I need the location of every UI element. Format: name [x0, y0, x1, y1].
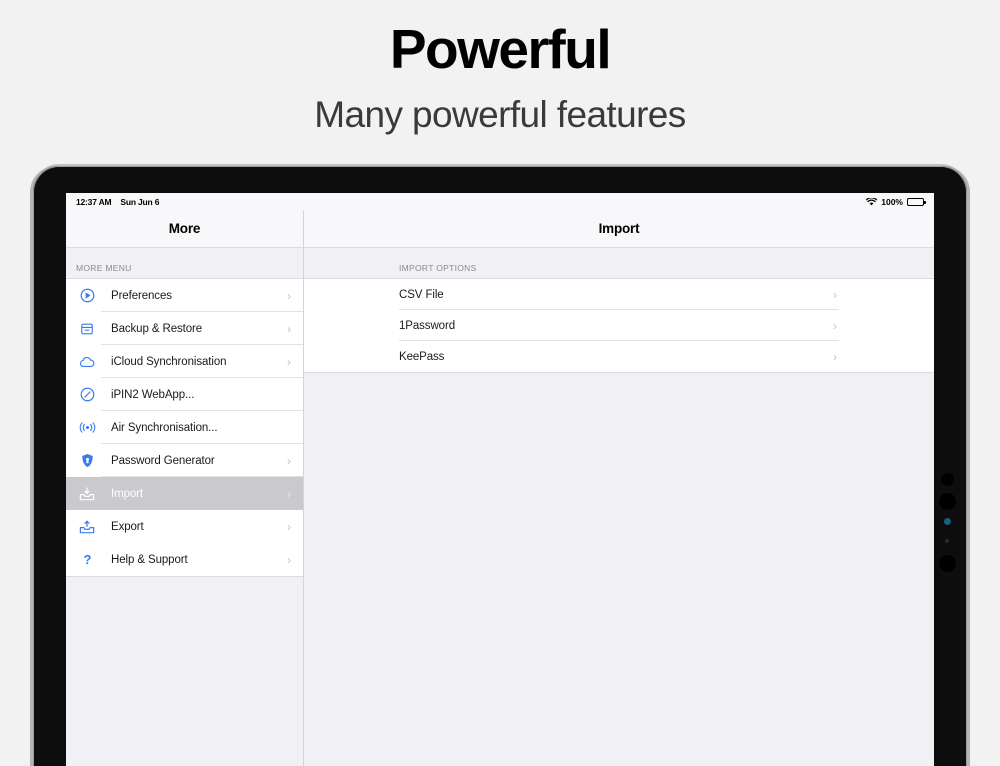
wifi-icon	[866, 198, 877, 206]
sidebar-item-password-generator[interactable]: Password Generator ›	[66, 444, 303, 477]
list-item-label: CSV File	[399, 289, 444, 301]
sidebar-item-label: Import	[111, 488, 143, 500]
sidebar-item-label: Export	[111, 521, 144, 533]
sidebar-item-label: Air Synchronisation...	[111, 422, 217, 434]
detail-navigation-bar: Import	[304, 210, 934, 248]
tablet-device-frame: 12:37 AM Sun Jun 6 100%	[33, 166, 967, 766]
detail-pane: Import IMPORT OPTIONS CSV File › 1Passwo…	[304, 210, 934, 766]
chevron-right-icon: ›	[287, 521, 291, 533]
tray-arrow-up-icon	[76, 520, 98, 534]
chevron-right-icon: ›	[287, 323, 291, 335]
chevron-right-icon: ›	[287, 554, 291, 566]
battery-percent-label: 100%	[881, 197, 903, 207]
sidebar-item-preferences[interactable]: Preferences ›	[66, 279, 303, 312]
chevron-right-icon: ›	[287, 455, 291, 467]
chevron-right-icon: ›	[287, 356, 291, 368]
sidebar-title: More	[169, 221, 200, 236]
bezel-dot	[939, 555, 956, 572]
sensor-dot	[945, 539, 949, 543]
detail-empty-area	[304, 373, 934, 766]
chevron-right-icon: ›	[833, 351, 837, 363]
detail-title: Import	[599, 221, 640, 236]
sidebar-item-label: Password Generator	[111, 455, 215, 467]
sidebar-item-backup-restore[interactable]: Backup & Restore ›	[66, 312, 303, 345]
status-time: 12:37 AM	[76, 197, 111, 207]
status-bar-right: 100%	[866, 197, 924, 207]
shield-icon	[76, 453, 98, 468]
question-mark-icon: ?	[76, 552, 98, 567]
device-screen: 12:37 AM Sun Jun 6 100%	[66, 193, 934, 766]
sidebar-item-air-synchronisation[interactable]: Air Synchronisation...	[66, 411, 303, 444]
sidebar-item-icloud-synchronisation[interactable]: iCloud Synchronisation ›	[66, 345, 303, 378]
chevron-right-icon: ›	[833, 320, 837, 332]
sidebar: More MORE MENU Preferences ›	[66, 210, 304, 766]
sidebar-section-header: MORE MENU	[66, 248, 303, 278]
page-title: Powerful	[0, 18, 1000, 81]
camera-dot	[944, 518, 951, 525]
cloud-icon	[76, 356, 98, 368]
sidebar-item-ipin2-webapp[interactable]: iPIN2 WebApp...	[66, 378, 303, 411]
sidebar-item-label: Help & Support	[111, 554, 188, 566]
tray-arrow-down-icon	[76, 487, 98, 501]
chevron-right-icon: ›	[833, 289, 837, 301]
status-bar-left: 12:37 AM Sun Jun 6	[66, 197, 159, 207]
preferences-icon	[76, 288, 98, 303]
battery-full-icon	[907, 198, 924, 206]
list-item-label: 1Password	[399, 320, 455, 332]
sidebar-empty-area	[66, 577, 303, 766]
sidebar-item-label: Backup & Restore	[111, 323, 202, 335]
detail-section-header: IMPORT OPTIONS	[304, 248, 934, 278]
sidebar-item-label: iPIN2 WebApp...	[111, 389, 194, 401]
bezel-dot	[939, 493, 956, 510]
compass-icon	[76, 387, 98, 402]
sidebar-navigation-bar: More	[66, 210, 303, 248]
import-option-keepass[interactable]: KeePass ›	[304, 341, 934, 372]
sidebar-item-export[interactable]: Export ›	[66, 510, 303, 543]
svg-text:?: ?	[83, 552, 91, 567]
import-option-1password[interactable]: 1Password ›	[304, 310, 934, 341]
sidebar-menu-list: Preferences › Backup & Restore	[66, 278, 303, 577]
bezel-dot	[941, 473, 954, 486]
sidebar-item-help-support[interactable]: ? Help & Support ›	[66, 543, 303, 576]
chevron-right-icon: ›	[287, 488, 291, 500]
list-item-label: KeePass	[399, 351, 444, 363]
import-options-list: CSV File › 1Password › KeePass ›	[304, 278, 934, 373]
status-date: Sun Jun 6	[120, 197, 159, 207]
hero-section: Powerful Many powerful features	[0, 0, 1000, 138]
page-subtitle: Many powerful features	[0, 93, 1000, 137]
split-view: More MORE MENU Preferences ›	[66, 210, 934, 766]
sidebar-item-label: Preferences	[111, 290, 172, 302]
archive-box-icon	[76, 322, 98, 336]
import-option-csv-file[interactable]: CSV File ›	[304, 279, 934, 310]
sidebar-item-label: iCloud Synchronisation	[111, 356, 226, 368]
chevron-right-icon: ›	[287, 290, 291, 302]
sidebar-item-import[interactable]: Import ›	[66, 477, 303, 510]
broadcast-icon	[76, 422, 98, 433]
status-bar: 12:37 AM Sun Jun 6 100%	[66, 193, 934, 210]
